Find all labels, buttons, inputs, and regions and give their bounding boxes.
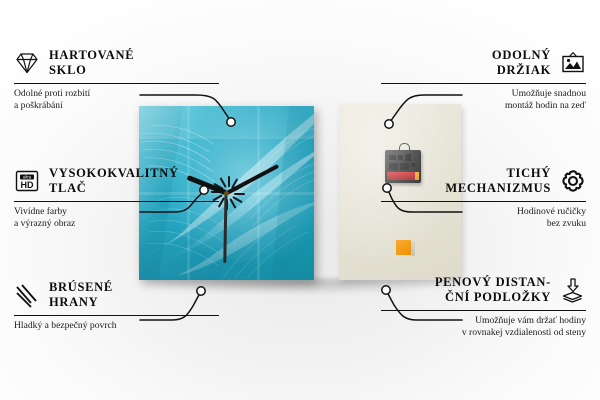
- feature-divider: [381, 83, 586, 84]
- feature-title: PENOVÝ DISTAN- ČNÍ PODLOŽKY: [435, 275, 551, 305]
- connector-dot-holder: [385, 120, 393, 128]
- feature-description: Umožňuje vám držať hodiny v rovnakej vzd…: [381, 315, 586, 339]
- feature-description: Vivídne farby a výrazný obraz: [14, 206, 219, 230]
- diagonal-lines-icon: [14, 282, 40, 308]
- feature-description: Hodinové ručičky bez zvuku: [381, 206, 586, 230]
- stack-arrow-icon: [560, 277, 586, 303]
- diamond-icon: [14, 50, 40, 76]
- feature-foam-spacers: PENOVÝ DISTAN- ČNÍ PODLOŽKY Umožňuje vám…: [381, 275, 586, 339]
- feature-durable-hanger: ODOLNÝ DRŽIAK Umožňuje snadnou montáž ho…: [381, 48, 586, 112]
- ultra-hd-icon: ultra HD: [14, 168, 40, 194]
- feature-divider: [381, 201, 586, 202]
- feature-divider: [14, 315, 219, 316]
- feature-divider: [14, 201, 219, 202]
- feature-tempered-glass: HARTOVANÉ SKLO Odolné proti rozbití a po…: [14, 48, 219, 112]
- feature-description: Odolné proti rozbití a poškrábání: [14, 88, 219, 112]
- picture-frame-icon: [560, 50, 586, 76]
- feature-title: BRÚSENÉ HRANY: [49, 280, 113, 310]
- feature-title: ODOLNÝ DRŽIAK: [492, 48, 551, 78]
- feature-title: TICHÝ MECHANIZMUS: [445, 166, 551, 196]
- feature-silent-mechanism: TICHÝ MECHANIZMUS Hodinové ručičky bez z…: [381, 166, 586, 230]
- svg-text:ultra: ultra: [23, 175, 32, 180]
- feature-divider: [14, 83, 219, 84]
- feature-description: Umožňuje snadnou montáž hodin na zeď: [381, 88, 586, 112]
- feature-description: Hladký a bezpečný povrch: [14, 320, 219, 332]
- feature-title: VYSOKOKVALITNÝ TLAČ: [49, 166, 179, 196]
- feature-polished-edges: BRÚSENÉ HRANY Hladký a bezpečný povrch: [14, 280, 219, 332]
- connector-dot-glass: [227, 118, 235, 126]
- infographic-canvas: HARTOVANÉ SKLO Odolné proti rozbití a po…: [0, 0, 600, 400]
- feature-title: HARTOVANÉ SKLO: [49, 48, 134, 78]
- gear-icon: [560, 168, 586, 194]
- feature-divider: [381, 310, 586, 311]
- feature-high-quality-print: ultra HD VYSOKOKVALITNÝ TLAČ Vivídne far…: [14, 166, 219, 230]
- svg-text:HD: HD: [21, 180, 34, 190]
